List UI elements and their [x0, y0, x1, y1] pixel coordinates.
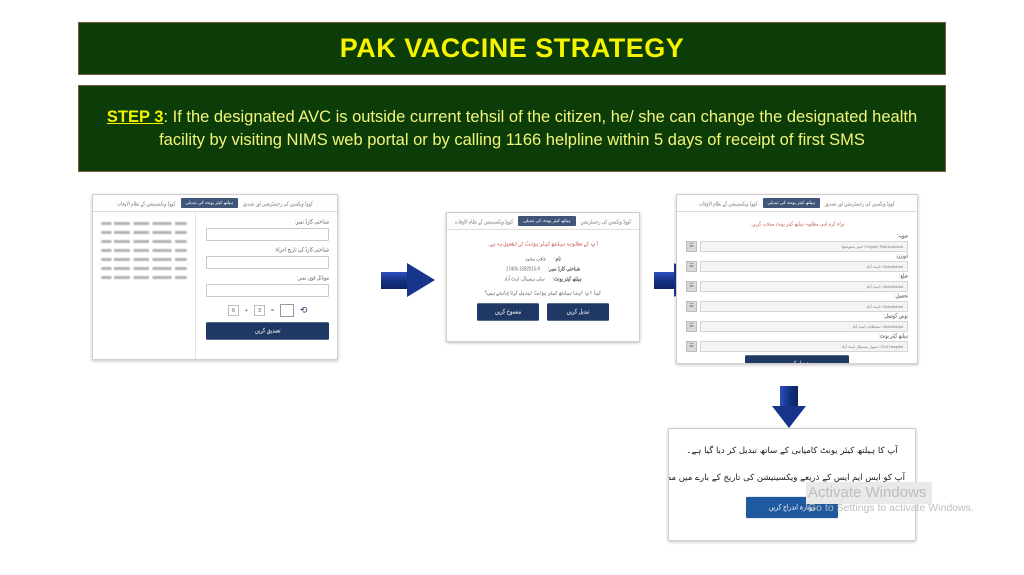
shot3-nav-schedule[interactable]: کووڈ ویکسین کی رجسٹریشن اور تصدیق	[825, 200, 895, 207]
shot3-control-tehsil[interactable]: ☰ ایبٹ آباد / Abbottabad	[686, 301, 908, 312]
shot3-control-division[interactable]: ☰ ایبٹ آباد / Abbottabad	[686, 261, 908, 272]
shot2-row-hcu: ہیلتھ کیئر یونٹ: سٹی ہسپتال، ایبٹ آباد	[457, 275, 629, 283]
shot3-field-union-council: یونین کونسل: ☰ مضافات ایبٹ آباد / Abbott…	[686, 314, 908, 332]
shot3-control-hcu[interactable]: ☰ سول ہسپتال ایبٹ آباد / Civil Hospital	[686, 341, 908, 352]
step-separator: :	[163, 108, 172, 126]
instruction-line	[101, 231, 187, 234]
dropdown-icon[interactable]: ☰	[686, 281, 697, 292]
screenshot-confirmation-dialog[interactable]: کووڈ ویکسین کی رجسٹریشن ہیلتھ کیئر یونٹ …	[446, 212, 640, 342]
shot3-nav-registration[interactable]: کووڈ ویکسینیشن کے نظام الاوقات	[699, 200, 757, 207]
shot3-button-row: تبدیل کریں	[686, 357, 908, 364]
instruction-line	[101, 249, 187, 252]
shot2-value-hcu: سٹی ہسپتال، ایبٹ آباد	[504, 275, 544, 283]
shot2-row-name: نام: عاقب محمد	[457, 255, 629, 263]
dropdown-icon[interactable]: ☰	[686, 341, 697, 352]
shot3-field-division: ڈویژن: ☰ ایبٹ آباد / Abbottabad	[686, 254, 908, 272]
arrow-down-icon	[772, 386, 806, 428]
shot3-label-tehsil: تحصیل:	[686, 292, 908, 300]
shot1-nav-schedule[interactable]: کووڈ ویکسین کی رجسٹریشن اور تصدیق	[243, 200, 313, 207]
shot1-nav-registration[interactable]: کووڈ ویکسینیشن کے نظام الاوقات	[117, 200, 175, 207]
captcha-operand-a: 6	[228, 305, 239, 316]
shot3-value-tehsil: ایبٹ آباد / Abbottabad	[867, 304, 903, 309]
shot3-value-tehsil-wrap[interactable]: ایبٹ آباد / Abbottabad	[700, 301, 908, 312]
shot2-value-name: عاقب محمد	[525, 255, 546, 263]
shot3-value-province-wrap[interactable]: خیبر پختونخوا / Khyber Pakhtunkhwa	[700, 241, 908, 252]
shot2-nav-change-hcu[interactable]: ہیلتھ کیئر یونٹ کی تبدیلی	[518, 216, 575, 226]
shot3-field-district: ضلع: ☰ ایبٹ آباد / Abbottabad	[686, 274, 908, 292]
shot3-value-union-council: مضافات ایبٹ آباد / Abbottabad	[852, 324, 903, 329]
shot1-body: شناختی کارڈ نمبر: شناختی کارڈ کی تاریخ ا…	[93, 212, 337, 360]
arrow-head	[772, 406, 806, 428]
shot2-row-cnic: شناختی کارڈ نمبر: 17405-1582015-9	[457, 265, 629, 273]
watermark-occluder	[806, 482, 932, 504]
shot3-value-province: خیبر پختونخوا / Khyber Pakhtunkhwa	[842, 244, 903, 249]
shot3-label-province: صوبہ:	[686, 232, 908, 240]
shot1-label-cnic: شناختی کارڈ نمبر:	[206, 218, 329, 226]
shot2-detail-rows: نام: عاقب محمد شناختی کارڈ نمبر: 17405-1…	[457, 256, 629, 282]
shot1-captcha-row[interactable]: 6 + 3 = ⟲	[206, 304, 329, 317]
shot3-control-province[interactable]: ☰ خیبر پختونخوا / Khyber Pakhtunkhwa	[686, 241, 908, 252]
dropdown-icon[interactable]: ☰	[686, 261, 697, 272]
shot3-field-tehsil: تحصیل: ☰ ایبٹ آباد / Abbottabad	[686, 294, 908, 312]
page-title: PAK VACCINE STRATEGY	[340, 33, 685, 64]
captcha-equals: =	[271, 308, 274, 314]
arrow-shaft	[654, 272, 676, 289]
shot1-label-cnic-issue-date: شناختی کارڈ کی تاریخ اجراء:	[206, 246, 329, 254]
dropdown-icon[interactable]: ☰	[686, 301, 697, 312]
shot3-control-union-council[interactable]: ☰ مضافات ایبٹ آباد / Abbottabad	[686, 321, 908, 332]
shot3-label-union-council: یونین کونسل:	[686, 312, 908, 320]
shot4-body: آپ کا ہیلتھ کیئر یونٹ کامیابی کے ساتھ تب…	[669, 429, 915, 524]
shot1-input-mobile[interactable]	[206, 284, 329, 297]
shot2-navbar[interactable]: کووڈ ویکسین کی رجسٹریشن ہیلتھ کیئر یونٹ …	[447, 213, 639, 230]
shot3-label-division: ڈویژن:	[686, 252, 908, 260]
shot3-navbar[interactable]: کووڈ ویکسین کی رجسٹریشن اور تصدیق ہیلتھ …	[677, 195, 917, 212]
shot3-value-hcu-wrap[interactable]: سول ہسپتال ایبٹ آباد / Civil Hospital	[700, 341, 908, 352]
shot1-form-column: شناختی کارڈ نمبر: شناختی کارڈ کی تاریخ ا…	[195, 212, 337, 360]
screenshot-facility-selection[interactable]: کووڈ ویکسین کی رجسٹریشن اور تصدیق ہیلتھ …	[676, 194, 918, 364]
captcha-operand-b: 3	[254, 305, 265, 316]
captcha-answer-input[interactable]	[280, 304, 294, 317]
shot2-nav-registration[interactable]: کووڈ ویکسینیشن کے نظام الاوقات	[455, 218, 513, 225]
shot3-label-district: ضلع:	[686, 272, 908, 280]
captcha-operator: +	[245, 308, 248, 314]
shot3-nav-change-hcu[interactable]: ہیلتھ کیئر یونٹ کی تبدیلی	[763, 198, 820, 208]
instruction-line	[101, 222, 187, 225]
shot2-body: آپ کے مطلوبہ ہیلتھ کیئر یونٹ کی تفصیل یہ…	[447, 230, 639, 326]
instruction-line	[101, 240, 187, 243]
shot3-value-union-council-wrap[interactable]: مضافات ایبٹ آباد / Abbottabad	[700, 321, 908, 332]
shot1-input-cnic-issue-date[interactable]	[206, 256, 329, 269]
shot2-confirm-button[interactable]: تبدیل کریں	[547, 303, 609, 321]
shot2-key-cnic: شناختی کارڈ نمبر:	[548, 265, 580, 273]
shot3-field-province: صوبہ: ☰ خیبر پختونخوا / Khyber Pakhtunkh…	[686, 234, 908, 252]
shot1-instructions-column	[93, 212, 195, 360]
shot3-value-district-wrap[interactable]: ایبٹ آباد / Abbottabad	[700, 281, 908, 292]
instruction-line	[101, 267, 187, 270]
arrow-head	[407, 263, 435, 297]
shot3-body: براہ کرم اپنی مطلوبہ ہیلتھ کیئر یونٹ منت…	[677, 212, 917, 364]
shot2-cancel-button[interactable]: منسوخ کریں	[477, 303, 539, 321]
arrow-shaft	[780, 386, 798, 408]
refresh-icon[interactable]: ⟲	[300, 306, 308, 315]
step-banner: STEP 3: If the designated AVC is outside…	[78, 85, 946, 172]
shot3-instruction-text: براہ کرم اپنی مطلوبہ ہیلتھ کیئر یونٹ منت…	[686, 220, 908, 228]
shot2-question-text: کیا آپ اپنا ہیلتھ کیئر یونٹ تبدیل کرنا چ…	[457, 289, 629, 297]
shot3-control-district[interactable]: ☰ ایبٹ آباد / Abbottabad	[686, 281, 908, 292]
shot2-key-hcu: ہیلتھ کیئر یونٹ:	[553, 275, 582, 283]
step-text: STEP 3: If the designated AVC is outside…	[105, 106, 919, 152]
shot3-value-hcu: سول ہسپتال ایبٹ آباد / Civil Hospital	[842, 344, 903, 349]
instruction-line	[101, 276, 187, 279]
screenshot-registration-form[interactable]: کووڈ ویکسین کی رجسٹریشن اور تصدیق ہیلتھ …	[92, 194, 338, 360]
dropdown-icon[interactable]: ☰	[686, 321, 697, 332]
instruction-line	[101, 258, 187, 261]
shot1-label-mobile: موبائل فون نمبر:	[206, 274, 329, 282]
shot2-key-name: نام:	[554, 255, 561, 263]
shot3-value-division-wrap[interactable]: ایبٹ آباد / Abbottabad	[700, 261, 908, 272]
shot1-navbar[interactable]: کووڈ ویکسین کی رجسٹریشن اور تصدیق ہیلتھ …	[93, 195, 337, 212]
step-label: STEP 3	[107, 108, 164, 126]
shot3-value-division: ایبٹ آباد / Abbottabad	[867, 264, 903, 269]
shot2-warning-text: آپ کے مطلوبہ ہیلتھ کیئر یونٹ کی تفصیل یہ…	[457, 240, 629, 248]
step-body: If the designated AVC is outside current…	[159, 108, 917, 149]
shot4-success-line-1: آپ کا ہیلتھ کیئر یونٹ کامیابی کے ساتھ تب…	[679, 445, 905, 456]
arrow-shaft	[381, 272, 409, 289]
title-banner: PAK VACCINE STRATEGY	[78, 22, 946, 75]
shot3-label-hcu: ہیلتھ کیئر یونٹ:	[686, 332, 908, 340]
shot2-nav-schedule[interactable]: کووڈ ویکسین کی رجسٹریشن	[581, 218, 632, 225]
slide-canvas: PAK VACCINE STRATEGY STEP 3: If the desi…	[0, 0, 1024, 575]
shot3-submit-button[interactable]: تبدیل کریں	[745, 355, 849, 364]
shot3-value-district: ایبٹ آباد / Abbottabad	[867, 284, 903, 289]
dropdown-icon[interactable]: ☰	[686, 241, 697, 252]
shot2-value-cnic: 17405-1582015-9	[506, 265, 540, 273]
shot1-nav-change-hcu[interactable]: ہیلتھ کیئر یونٹ کی تبدیلی	[181, 198, 238, 208]
shot3-field-hcu: ہیلتھ کیئر یونٹ: ☰ سول ہسپتال ایبٹ آباد …	[686, 334, 908, 352]
shot2-button-row: تبدیل کریں منسوخ کریں	[457, 305, 629, 319]
shot1-input-cnic[interactable]	[206, 228, 329, 241]
shot1-submit-button[interactable]: تصدیق کریں	[206, 322, 329, 340]
arrow-right-icon-1	[381, 263, 435, 297]
